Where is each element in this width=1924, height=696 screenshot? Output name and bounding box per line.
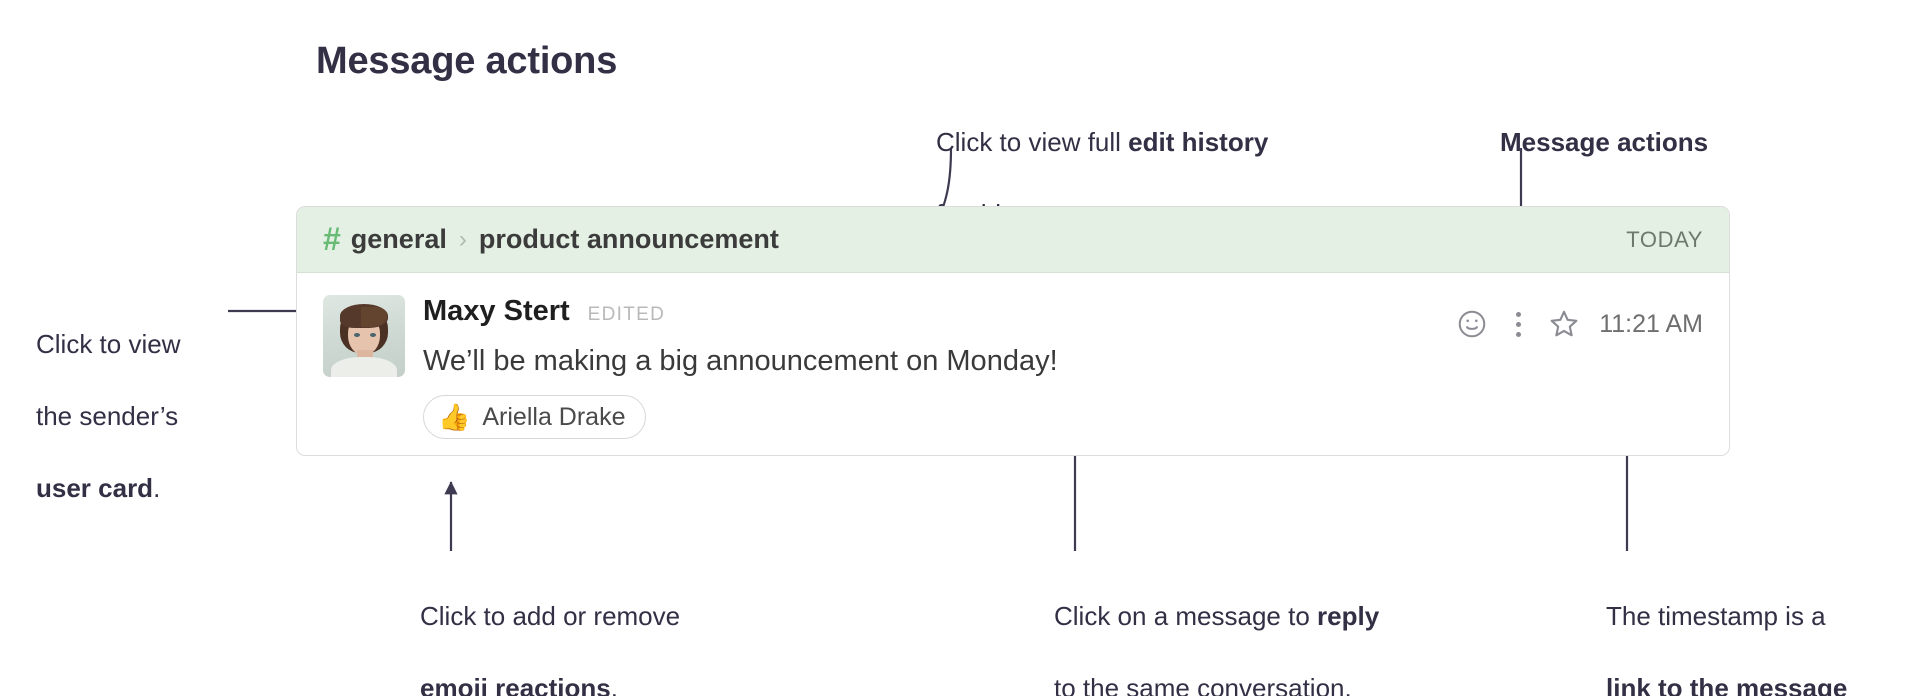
- illustration-canvas: Message actions: [0, 0, 1924, 696]
- thumbs-up-emoji: 👍: [438, 404, 470, 430]
- page-title: Message actions: [316, 40, 617, 83]
- message-card: # general › product announcement TODAY: [296, 206, 1730, 456]
- reaction-user-name: Ariella Drake: [482, 403, 625, 432]
- date-label: TODAY: [1626, 227, 1703, 253]
- annotation-emoji-line1: Click to add or remove: [420, 598, 790, 634]
- annotation-reply: Click on a message to reply to the same …: [1054, 562, 1454, 696]
- message-body[interactable]: 11:21 AM Maxy Stert EDITED: [297, 273, 1729, 439]
- annotation-user-card-line1: Click to view: [36, 326, 266, 362]
- annotation-message-actions-bold: Message actions: [1500, 127, 1708, 157]
- annotation-user-card: Click to view the sender’s user card.: [36, 290, 266, 542]
- emoji-reaction-pill[interactable]: 👍 Ariella Drake: [423, 395, 646, 439]
- sender-name[interactable]: Maxy Stert: [423, 295, 570, 328]
- annotation-edit-history-prefix: Click to view full: [936, 127, 1128, 157]
- message-text[interactable]: We’ll be making a big announcement on Mo…: [423, 343, 1703, 379]
- annotation-timestamp: The timestamp is a link to the message (…: [1606, 562, 1924, 696]
- breadcrumb-topic[interactable]: product announcement: [479, 224, 779, 255]
- annotation-reply-bold: reply: [1317, 601, 1379, 631]
- channel-breadcrumb-header: # general › product announcement TODAY: [297, 207, 1729, 273]
- annotation-edit-history-bold: edit history: [1128, 127, 1268, 157]
- star-icon[interactable]: [1541, 301, 1587, 347]
- hash-icon: #: [323, 223, 341, 255]
- annotation-user-card-period: .: [153, 473, 160, 503]
- annotation-user-card-line2: the sender’s: [36, 398, 266, 434]
- annotation-reply-line2: to the same conversation.: [1054, 670, 1454, 696]
- annotation-emoji-period: .: [611, 673, 618, 696]
- chevron-right-icon: ›: [459, 226, 467, 254]
- annotation-emoji-reactions: Click to add or remove emoji reactions.: [420, 562, 790, 696]
- annotation-emoji-bold: emoji reactions: [420, 673, 611, 696]
- annotation-timestamp-line1: The timestamp is a: [1606, 598, 1924, 634]
- edited-badge[interactable]: EDITED: [588, 304, 665, 326]
- reaction-row: 👍 Ariella Drake: [423, 395, 1703, 439]
- avatar[interactable]: [323, 295, 405, 377]
- annotation-timestamp-bold: link to the message: [1606, 673, 1847, 696]
- annotation-user-card-bold: user card: [36, 473, 153, 503]
- message-actions-menu-icon[interactable]: [1495, 301, 1541, 347]
- annotation-reply-prefix: Click on a message to: [1054, 601, 1317, 631]
- emoji-reaction-icon[interactable]: [1449, 301, 1495, 347]
- breadcrumb-channel[interactable]: general: [351, 224, 447, 255]
- message-timestamp-link[interactable]: 11:21 AM: [1599, 310, 1703, 339]
- message-action-icons: 11:21 AM: [1449, 301, 1703, 347]
